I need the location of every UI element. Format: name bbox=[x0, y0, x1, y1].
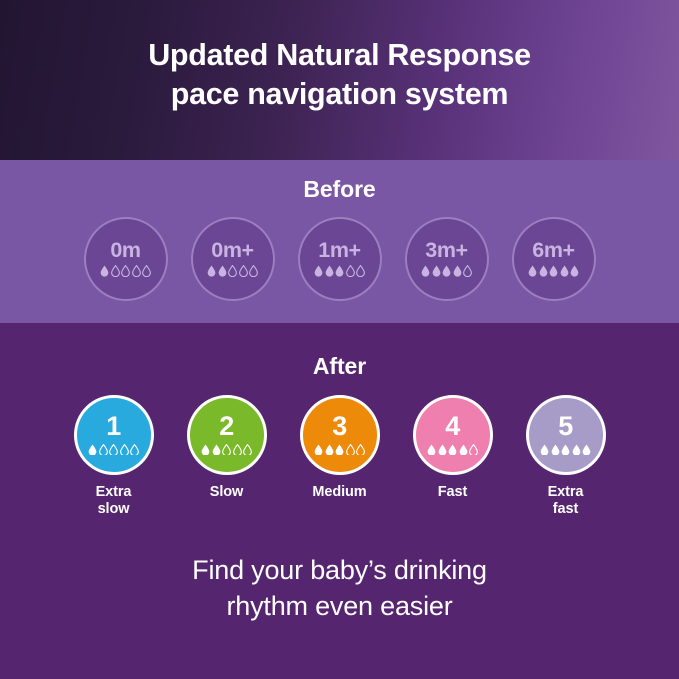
page-title-line-2: pace navigation system bbox=[0, 75, 679, 114]
droplet-empty-icon bbox=[109, 444, 118, 456]
droplet-empty-icon bbox=[111, 265, 120, 277]
after-pace-circle: 2 bbox=[187, 395, 267, 475]
after-pace-caption-line-1: Fast bbox=[438, 484, 467, 501]
after-item: 2Slow bbox=[182, 395, 272, 501]
before-age-circle: 6m+ bbox=[512, 217, 596, 301]
droplet-rating bbox=[421, 265, 472, 278]
droplet-empty-icon bbox=[142, 265, 151, 277]
droplet-filled-icon bbox=[314, 444, 323, 456]
after-pace-caption: Extrafast bbox=[548, 484, 584, 518]
droplet-filled-icon bbox=[325, 444, 334, 456]
after-pace-number: 1 bbox=[106, 413, 121, 440]
after-pace-circle: 1 bbox=[74, 395, 154, 475]
after-pace-caption-line-1: Extra bbox=[548, 484, 584, 501]
droplet-empty-icon bbox=[99, 444, 108, 456]
droplet-empty-icon bbox=[469, 444, 478, 456]
before-item: 6m+ bbox=[512, 217, 596, 301]
before-item: 1m+ bbox=[298, 217, 382, 301]
before-age-label: 3m+ bbox=[425, 239, 467, 261]
droplet-empty-icon bbox=[130, 444, 139, 456]
after-pace-caption: Slow bbox=[210, 484, 243, 501]
droplet-empty-icon bbox=[356, 444, 365, 456]
droplet-filled-icon bbox=[540, 444, 549, 456]
droplet-empty-icon bbox=[243, 444, 252, 456]
after-pace-number: 5 bbox=[558, 413, 573, 440]
droplet-rating bbox=[201, 443, 252, 456]
droplet-filled-icon bbox=[442, 265, 451, 277]
droplet-empty-icon bbox=[228, 265, 237, 277]
droplet-empty-icon bbox=[346, 444, 355, 456]
after-pace-caption-line-2: slow bbox=[96, 501, 132, 518]
droplet-empty-icon bbox=[249, 265, 258, 277]
droplet-filled-icon bbox=[100, 265, 109, 277]
droplet-rating bbox=[314, 443, 365, 456]
droplet-filled-icon bbox=[427, 444, 436, 456]
before-age-label: 1m+ bbox=[318, 239, 360, 261]
infographic-root: Updated Natural Response pace navigation… bbox=[0, 0, 679, 679]
before-circle-row: 0m0m+1m+3m+6m+ bbox=[0, 217, 679, 301]
droplet-filled-icon bbox=[88, 444, 97, 456]
after-section: After 1Extraslow2Slow3Medium4Fast5Extraf… bbox=[0, 323, 679, 679]
droplet-empty-icon bbox=[233, 444, 242, 456]
after-pace-circle: 5 bbox=[526, 395, 606, 475]
droplet-rating bbox=[540, 443, 591, 456]
droplet-filled-icon bbox=[453, 265, 462, 277]
after-item: 1Extraslow bbox=[69, 395, 159, 518]
droplet-filled-icon bbox=[459, 444, 468, 456]
after-pace-caption-line-1: Extra bbox=[96, 484, 132, 501]
droplet-empty-icon bbox=[121, 265, 130, 277]
droplet-rating bbox=[207, 265, 258, 278]
before-age-label: 0m+ bbox=[211, 239, 253, 261]
page-title: Updated Natural Response pace navigation… bbox=[0, 36, 679, 114]
droplet-filled-icon bbox=[432, 265, 441, 277]
before-age-circle: 0m bbox=[84, 217, 168, 301]
droplet-empty-icon bbox=[239, 265, 248, 277]
droplet-empty-icon bbox=[132, 265, 141, 277]
droplet-filled-icon bbox=[218, 265, 227, 277]
after-pace-caption: Medium bbox=[312, 484, 366, 501]
droplet-filled-icon bbox=[314, 265, 323, 277]
droplet-filled-icon bbox=[335, 265, 344, 277]
before-item: 0m bbox=[84, 217, 168, 301]
droplet-filled-icon bbox=[207, 265, 216, 277]
after-pace-caption-line-2: fast bbox=[548, 501, 584, 518]
after-item: 4Fast bbox=[408, 395, 498, 501]
droplet-filled-icon bbox=[560, 265, 569, 277]
droplet-filled-icon bbox=[549, 265, 558, 277]
before-age-label: 0m bbox=[110, 239, 140, 261]
droplet-rating bbox=[528, 265, 579, 278]
droplet-filled-icon bbox=[325, 265, 334, 277]
tagline-line-2: rhythm even easier bbox=[0, 588, 679, 624]
after-pace-caption: Extraslow bbox=[96, 484, 132, 518]
droplet-rating bbox=[314, 265, 365, 278]
after-pace-caption: Fast bbox=[438, 484, 467, 501]
droplet-filled-icon bbox=[212, 444, 221, 456]
after-heading: After bbox=[0, 353, 679, 380]
after-pace-circle: 4 bbox=[413, 395, 493, 475]
before-age-label: 6m+ bbox=[532, 239, 574, 261]
droplet-filled-icon bbox=[561, 444, 570, 456]
after-item: 3Medium bbox=[295, 395, 385, 501]
droplet-filled-icon bbox=[201, 444, 210, 456]
after-pace-number: 2 bbox=[219, 413, 234, 440]
after-pace-caption-line-1: Slow bbox=[210, 484, 243, 501]
droplet-empty-icon bbox=[120, 444, 129, 456]
droplet-filled-icon bbox=[528, 265, 537, 277]
page-title-line-1: Updated Natural Response bbox=[0, 36, 679, 75]
droplet-empty-icon bbox=[346, 265, 355, 277]
after-circle-row: 1Extraslow2Slow3Medium4Fast5Extrafast bbox=[0, 395, 679, 518]
before-age-circle: 0m+ bbox=[191, 217, 275, 301]
after-pace-circle: 3 bbox=[300, 395, 380, 475]
droplet-empty-icon bbox=[356, 265, 365, 277]
after-pace-number: 3 bbox=[332, 413, 347, 440]
droplet-rating bbox=[427, 443, 478, 456]
droplet-filled-icon bbox=[438, 444, 447, 456]
droplet-filled-icon bbox=[448, 444, 457, 456]
droplet-filled-icon bbox=[572, 444, 581, 456]
droplet-filled-icon bbox=[570, 265, 579, 277]
droplet-filled-icon bbox=[582, 444, 591, 456]
droplet-empty-icon bbox=[222, 444, 231, 456]
droplet-empty-icon bbox=[463, 265, 472, 277]
after-pace-number: 4 bbox=[445, 413, 460, 440]
before-section: Before 0m0m+1m+3m+6m+ bbox=[0, 160, 679, 323]
before-age-circle: 1m+ bbox=[298, 217, 382, 301]
before-heading: Before bbox=[0, 176, 679, 203]
droplet-filled-icon bbox=[551, 444, 560, 456]
header-band: Updated Natural Response pace navigation… bbox=[0, 0, 679, 160]
droplet-filled-icon bbox=[539, 265, 548, 277]
tagline: Find your baby’s drinking rhythm even ea… bbox=[0, 552, 679, 624]
after-item: 5Extrafast bbox=[521, 395, 611, 518]
after-pace-caption-line-1: Medium bbox=[312, 484, 366, 501]
tagline-line-1: Find your baby’s drinking bbox=[0, 552, 679, 588]
droplet-rating bbox=[88, 443, 139, 456]
droplet-filled-icon bbox=[421, 265, 430, 277]
before-age-circle: 3m+ bbox=[405, 217, 489, 301]
before-item: 3m+ bbox=[405, 217, 489, 301]
before-item: 0m+ bbox=[191, 217, 275, 301]
droplet-filled-icon bbox=[335, 444, 344, 456]
droplet-rating bbox=[100, 265, 151, 278]
